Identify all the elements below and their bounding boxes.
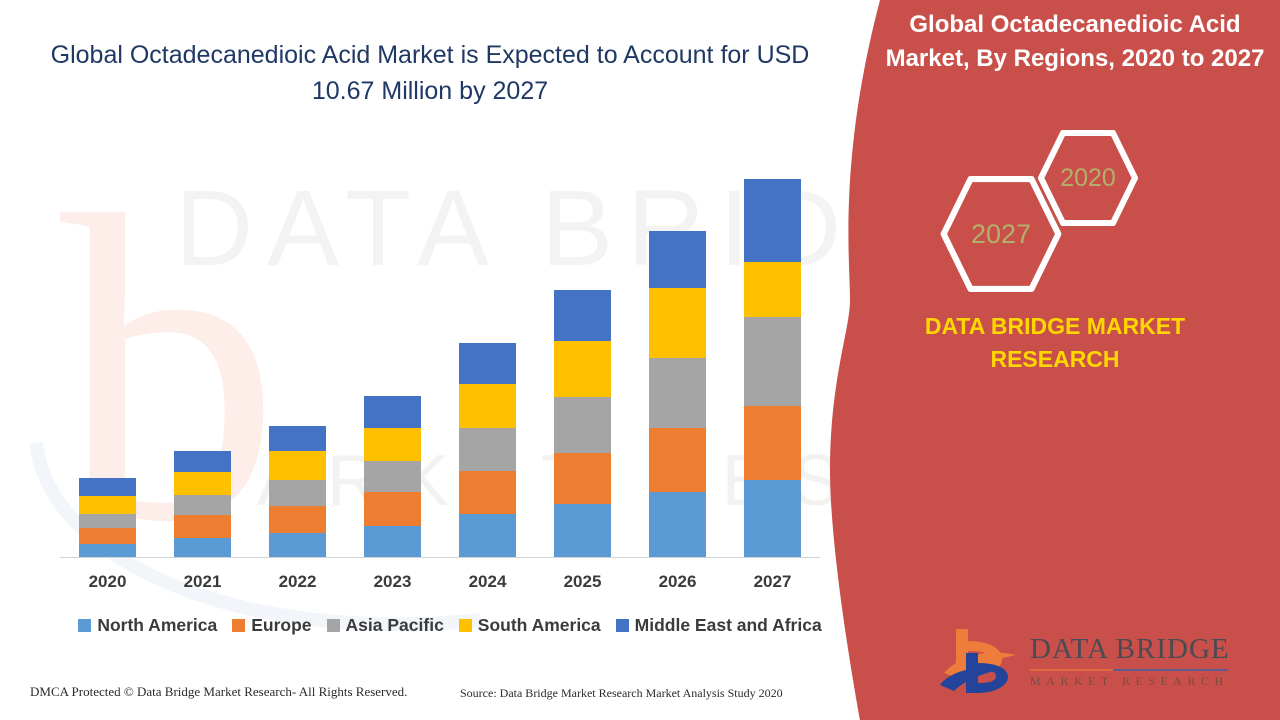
x-axis-tick-label: 2023 — [345, 572, 440, 592]
hexagon-badges: 2027 2020 — [920, 128, 1160, 293]
logo-main-text: DATA BRIDGE — [1030, 635, 1235, 664]
bar-segment — [744, 317, 801, 406]
bar-segment — [174, 451, 231, 472]
stacked-bar — [649, 231, 706, 557]
x-axis-line — [60, 557, 820, 558]
bar-segment — [269, 533, 326, 557]
bar-segment — [554, 341, 611, 397]
x-axis-tick-label: 2020 — [60, 572, 155, 592]
stacked-bar — [554, 290, 611, 557]
bar-segment — [364, 492, 421, 526]
bar-column — [250, 170, 345, 557]
legend-swatch-icon — [232, 619, 245, 632]
bar-segment — [649, 358, 706, 428]
bar-segment — [79, 528, 136, 544]
stacked-bar — [79, 478, 136, 557]
bar-segment — [554, 453, 611, 504]
bar-segment — [174, 538, 231, 557]
stacked-bar — [174, 451, 231, 557]
data-bridge-logo-icon — [938, 625, 1028, 695]
chart-legend: North AmericaEuropeAsia PacificSouth Ame… — [60, 615, 840, 636]
bar-segment — [459, 428, 516, 472]
brand-panel: Global Octadecanedioic Acid Market, By R… — [820, 0, 1280, 720]
stacked-bar — [744, 179, 801, 557]
x-axis-tick-label: 2024 — [440, 572, 535, 592]
bar-segment — [364, 428, 421, 460]
legend-label: Middle East and Africa — [635, 615, 822, 636]
x-axis-labels: 20202021202220232024202520262027 — [60, 572, 820, 592]
footer-copyright: DMCA Protected © Data Bridge Market Rese… — [30, 684, 407, 700]
bar-segment — [744, 480, 801, 557]
bar-segment — [364, 396, 421, 428]
legend-label: South America — [478, 615, 601, 636]
legend-item[interactable]: North America — [78, 615, 217, 636]
bar-segment — [269, 451, 326, 480]
x-axis-tick-label: 2026 — [630, 572, 725, 592]
bar-segment — [459, 384, 516, 428]
bar-segment — [79, 514, 136, 528]
bar-segment — [459, 471, 516, 514]
company-logo: DATA BRIDGE MARKET RESEARCH — [938, 625, 1238, 705]
logo-divider — [1030, 669, 1228, 671]
bar-segment — [269, 480, 326, 506]
bar-segment — [554, 290, 611, 342]
legend-label: Asia Pacific — [346, 615, 444, 636]
legend-swatch-icon — [459, 619, 472, 632]
bar-group — [60, 170, 820, 557]
brand-name: DATA BRIDGE MARKET RESEARCH — [865, 310, 1245, 377]
legend-label: Europe — [251, 615, 311, 636]
bar-column — [630, 170, 725, 557]
bar-segment — [79, 478, 136, 496]
bar-column — [155, 170, 250, 557]
bar-segment — [79, 496, 136, 514]
bar-segment — [649, 288, 706, 358]
bar-segment — [649, 492, 706, 557]
bar-segment — [364, 526, 421, 557]
stacked-bar — [364, 396, 421, 557]
legend-label: North America — [97, 615, 217, 636]
bar-segment — [269, 426, 326, 452]
bar-segment — [174, 515, 231, 538]
footer-source: Source: Data Bridge Market Research Mark… — [460, 686, 783, 701]
bar-segment — [459, 514, 516, 557]
hexagon-badge-2020: 2020 — [1038, 128, 1138, 228]
bar-segment — [554, 397, 611, 453]
bar-segment — [554, 504, 611, 557]
infographic-root: b DATA BRIDGE MARKET RESEARCH Global Oct… — [0, 0, 1280, 720]
bar-segment — [79, 544, 136, 557]
bar-column — [440, 170, 535, 557]
bar-segment — [649, 428, 706, 491]
stacked-bar — [459, 343, 516, 557]
x-axis-tick-label: 2027 — [725, 572, 820, 592]
x-axis-tick-label: 2021 — [155, 572, 250, 592]
hexagon-label-2020: 2020 — [1060, 164, 1116, 193]
legend-swatch-icon — [78, 619, 91, 632]
bar-segment — [459, 343, 516, 384]
panel-title: Global Octadecanedioic Acid Market, By R… — [880, 8, 1270, 76]
chart-plot-area — [60, 170, 820, 558]
bar-segment — [744, 406, 801, 480]
logo-sub-text: MARKET RESEARCH — [1030, 675, 1235, 687]
x-axis-tick-label: 2022 — [250, 572, 345, 592]
legend-item[interactable]: Europe — [232, 615, 311, 636]
bar-column — [725, 170, 820, 557]
stacked-bar — [269, 426, 326, 557]
bar-segment — [744, 262, 801, 318]
bar-segment — [744, 179, 801, 262]
legend-item[interactable]: South America — [459, 615, 601, 636]
bar-column — [345, 170, 440, 557]
bar-segment — [174, 495, 231, 515]
bar-column — [60, 170, 155, 557]
bar-segment — [174, 472, 231, 495]
chart-title: Global Octadecanedioic Acid Market is Ex… — [40, 38, 820, 109]
legend-swatch-icon — [616, 619, 629, 632]
legend-swatch-icon — [327, 619, 340, 632]
legend-item[interactable]: Middle East and Africa — [616, 615, 822, 636]
bar-segment — [364, 461, 421, 492]
legend-item[interactable]: Asia Pacific — [327, 615, 444, 636]
bar-segment — [269, 506, 326, 533]
x-axis-tick-label: 2025 — [535, 572, 630, 592]
bar-segment — [649, 231, 706, 289]
hexagon-label-2027: 2027 — [971, 219, 1031, 250]
bar-column — [535, 170, 630, 557]
